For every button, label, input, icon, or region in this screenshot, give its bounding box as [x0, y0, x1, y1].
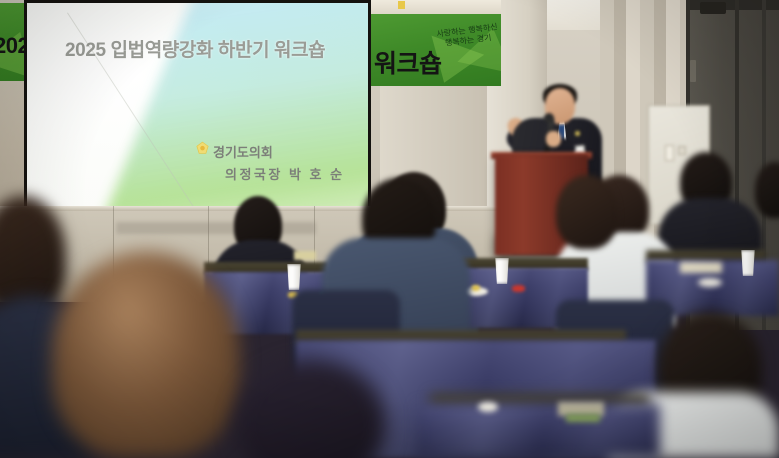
door-hinge-upper	[690, 60, 696, 82]
handout-paper	[294, 251, 316, 260]
banner-clip-icon	[398, 1, 405, 9]
speaker-right-hand	[546, 131, 561, 147]
cloth-sheen	[418, 404, 660, 458]
light-switch-icon[interactable]	[665, 145, 674, 161]
banner-top-strip	[349, 0, 501, 14]
foreground-head-large	[52, 252, 240, 458]
gyeonggi-council-emblem-icon	[195, 141, 210, 156]
slide-organization: 경기도의회	[213, 142, 273, 161]
table-cloth	[418, 404, 660, 458]
attendee-head	[556, 175, 618, 249]
table-object	[512, 285, 525, 292]
speaker-lapel-pin-icon	[575, 131, 580, 136]
snack-plate	[478, 402, 498, 412]
table-object	[566, 414, 600, 422]
handout-paper	[680, 262, 722, 273]
projection-screen: 2025 입법역량강화 하반기 워크숍 경기도의회 의정국장 박 호 순	[24, 0, 371, 213]
microphone-head-icon	[544, 113, 554, 123]
snack-plate	[698, 278, 722, 287]
wall-cabinet-shadow	[116, 222, 316, 234]
slide-presenter: 의정국장 박 호 순	[225, 164, 345, 183]
door-closer-icon	[700, 2, 726, 14]
banner-right: 화 워크숍 사랑하는 행복하신 행복하는 경기	[349, 14, 501, 86]
slide-title: 2025 입법역량강화 하반기 워크숍	[65, 35, 325, 62]
projected-slide: 2025 입법역량강화 하반기 워크숍 경기도의회 의정국장 박 호 순	[27, 3, 368, 210]
wall-outlet-icon	[678, 146, 686, 155]
conference-photo: 2025 화 워크숍 사랑하는 행복하신 행복하는 경기 2025 입법역량강화…	[0, 0, 779, 458]
snack-item	[471, 285, 480, 291]
